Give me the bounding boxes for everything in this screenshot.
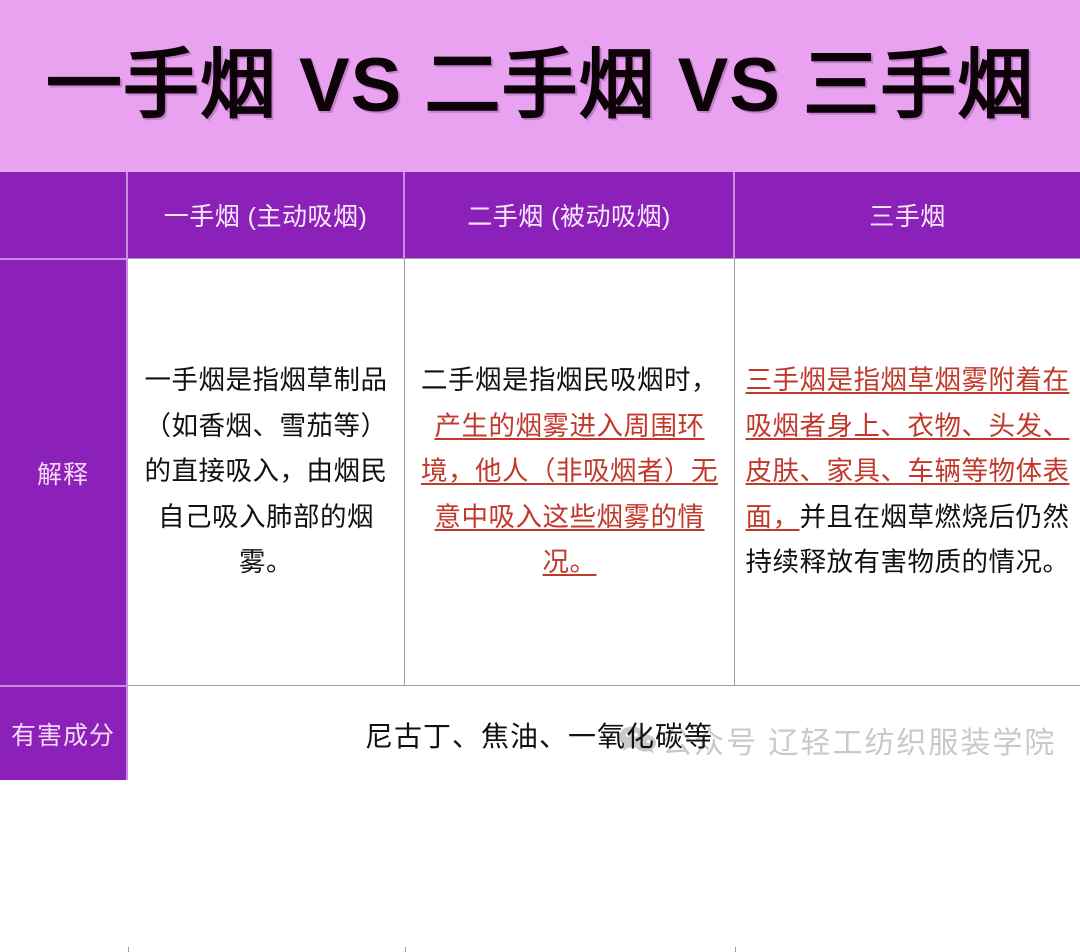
- text-segment-plain: 一手烟是指烟草制品（如香烟、雪茄等）的直接吸入，由烟民自己吸入肺部的烟雾。: [145, 365, 388, 577]
- table-row: 解释 一手烟是指烟草制品（如香烟、雪茄等）的直接吸入，由烟民自己吸入肺部的烟雾。…: [0, 258, 1080, 685]
- title-banner: 一手烟 VS 二手烟 VS 三手烟: [0, 0, 1080, 172]
- harmful-components-text: 尼古丁、焦油、一氧化碳等: [365, 715, 713, 755]
- header-cell-secondhand: 二手烟 (被动吸烟): [405, 172, 735, 258]
- grid-line: [405, 947, 406, 952]
- cell-explanation-secondhand: 二手烟是指烟民吸烟时，产生的烟雾进入周围环境，他人（非吸烟者）无意中吸入这些烟雾…: [405, 258, 735, 685]
- cell-harmful-components-value: 尼古丁、焦油、一氧化碳等: [128, 685, 1080, 780]
- header-cell-firsthand: 一手烟 (主动吸烟): [128, 172, 405, 258]
- comparison-table: 一手烟 (主动吸烟) 二手烟 (被动吸烟) 三手烟 解释 一手烟是指烟草制品（如…: [0, 172, 1080, 780]
- table-row: 有害成分 尼古丁、焦油、一氧化碳等: [0, 685, 1080, 780]
- header-label-thirdhand: 三手烟: [869, 197, 946, 233]
- row-label-text: 解释: [37, 455, 89, 491]
- cell-explanation-thirdhand: 三手烟是指烟草烟雾附着在吸烟者身上、衣物、头发、皮肤、家具、车辆等物体表面，并且…: [735, 258, 1080, 685]
- grid-line: [128, 947, 129, 952]
- header-corner-cell: [0, 172, 128, 258]
- row-label-text: 有害成分: [11, 716, 115, 752]
- paragraph-thirdhand: 三手烟是指烟草烟雾附着在吸烟者身上、衣物、头发、皮肤、家具、车辆等物体表面，并且…: [741, 358, 1074, 586]
- cell-explanation-firsthand: 一手烟是指烟草制品（如香烟、雪茄等）的直接吸入，由烟民自己吸入肺部的烟雾。: [128, 258, 405, 685]
- header-cell-thirdhand: 三手烟: [735, 172, 1080, 258]
- row-label-explanation: 解释: [0, 258, 128, 685]
- table-header-row: 一手烟 (主动吸烟) 二手烟 (被动吸烟) 三手烟: [0, 172, 1080, 258]
- paragraph-secondhand: 二手烟是指烟民吸烟时，产生的烟雾进入周围环境，他人（非吸烟者）无意中吸入这些烟雾…: [417, 358, 722, 586]
- header-label-firsthand: 一手烟 (主动吸烟): [164, 197, 368, 233]
- page-title: 一手烟 VS 二手烟 VS 三手烟: [46, 48, 1034, 124]
- text-segment-plain: 二手烟是指烟民吸烟时，: [421, 365, 718, 395]
- header-label-secondhand: 二手烟 (被动吸烟): [467, 197, 671, 233]
- text-segment-highlight: 产生的烟雾进入周围环境，他人（非吸烟者）无意中吸入这些烟雾的情况。: [421, 411, 718, 578]
- paragraph-firsthand: 一手烟是指烟草制品（如香烟、雪茄等）的直接吸入，由烟民自己吸入肺部的烟雾。: [140, 358, 392, 586]
- grid-line: [735, 947, 736, 952]
- row-label-harmful-components: 有害成分: [0, 685, 128, 780]
